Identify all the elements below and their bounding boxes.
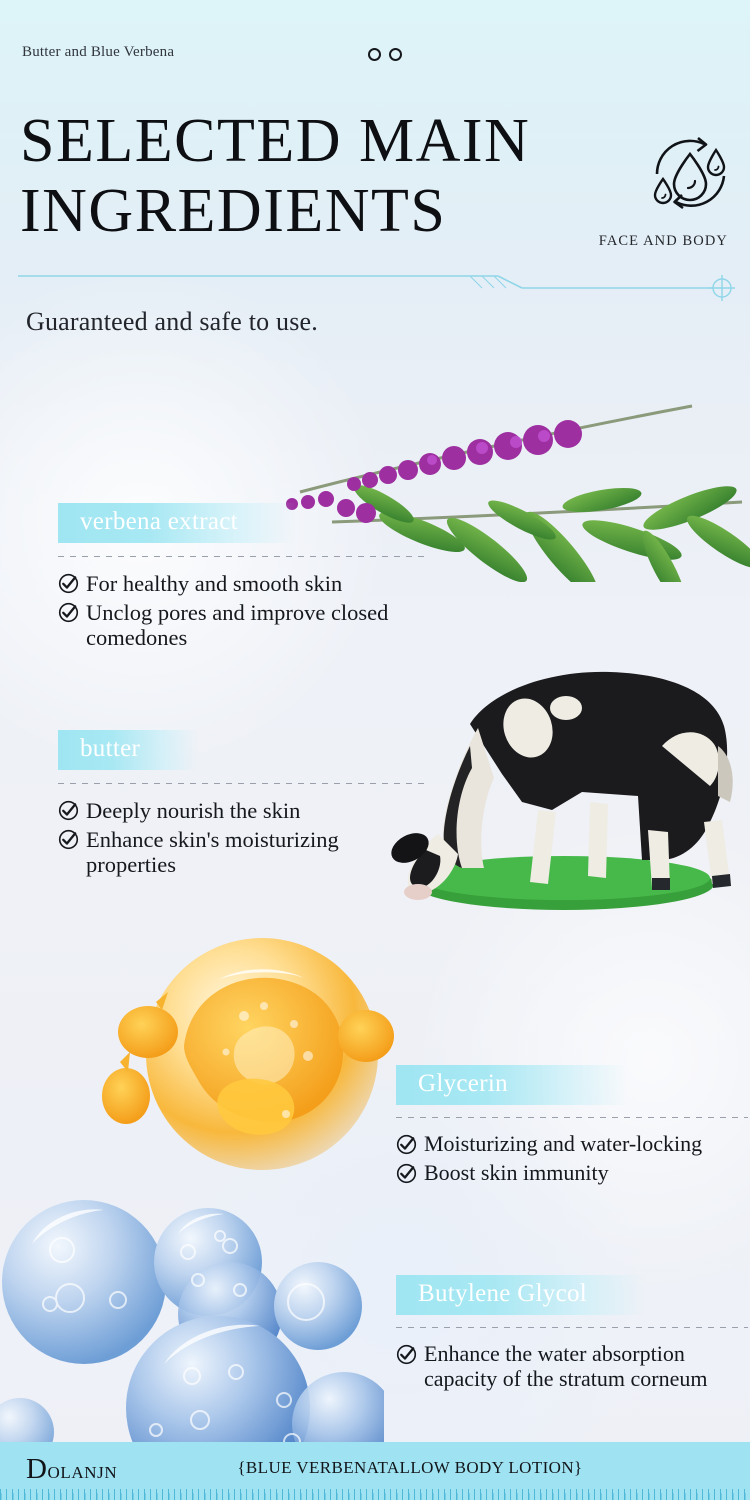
water-bubbles-photo bbox=[0, 1186, 384, 1468]
product-name-text: {BLUE VERBENATALLOW BODY LOTION} bbox=[0, 1458, 750, 1478]
list-item: Moisturizing and water-locking bbox=[396, 1132, 748, 1157]
ingredient-block-butylene-glycol: Butylene Glycol Enhance the water absorp… bbox=[396, 1275, 748, 1395]
dot-pair-icon bbox=[368, 48, 402, 61]
page-subtitle: Guaranteed and safe to use. bbox=[26, 307, 318, 337]
page-title-line1: SELECTED MAIN bbox=[20, 107, 530, 175]
dashed-divider bbox=[396, 1327, 748, 1328]
list-item: Unclog pores and improve closed comedone… bbox=[58, 600, 430, 650]
check-circle-icon bbox=[396, 1134, 417, 1155]
ingredient-name-tag: Glycerin bbox=[396, 1065, 628, 1105]
ruler-ticks-strip bbox=[0, 1489, 750, 1500]
list-item-text: Enhance skin's moisturizing properties bbox=[86, 827, 339, 877]
check-circle-icon bbox=[58, 573, 79, 594]
check-circle-icon bbox=[58, 800, 79, 821]
ingredient-name-tag: Butylene Glycol bbox=[396, 1275, 645, 1315]
list-item-text: Boost skin immunity bbox=[424, 1160, 609, 1185]
ingredient-block-glycerin: Glycerin Moisturizing and water-locking … bbox=[396, 1065, 748, 1189]
check-circle-icon bbox=[58, 602, 79, 623]
dashed-divider bbox=[396, 1117, 748, 1118]
ingredient-name-tag: verbena extract bbox=[58, 503, 296, 543]
list-item-text: Enhance the water absorption capacity of… bbox=[424, 1341, 707, 1391]
list-item: For healthy and smooth skin bbox=[58, 571, 430, 596]
infographic-page: Butter and Blue Verbena SELECTED MAIN IN… bbox=[0, 0, 750, 1500]
list-item: Enhance the water absorption capacity of… bbox=[396, 1342, 748, 1391]
eyebrow-text: Butter and Blue Verbena bbox=[22, 44, 174, 61]
water-drop-cycle-icon bbox=[646, 132, 734, 212]
list-item-text: For healthy and smooth skin bbox=[86, 571, 342, 596]
ingredient-block-verbena-extract: verbena extract For healthy and smooth s… bbox=[58, 503, 430, 655]
list-item-text: Deeply nourish the skin bbox=[86, 798, 300, 823]
face-and-body-label: FACE AND BODY bbox=[598, 232, 728, 252]
list-item-text: Unclog pores and improve closed comedone… bbox=[86, 600, 388, 650]
check-circle-icon bbox=[396, 1163, 417, 1184]
footer-bar: Dolanjn {BLUE VERBENATALLOW BODY LOTION} bbox=[0, 1442, 750, 1500]
benefit-list: Moisturizing and water-locking Boost ski… bbox=[396, 1132, 748, 1185]
dashed-divider bbox=[58, 556, 430, 557]
benefit-list: Deeply nourish the skin Enhance skin's m… bbox=[58, 798, 430, 878]
list-item: Boost skin immunity bbox=[396, 1161, 748, 1186]
glycerin-droplet-photo bbox=[98, 928, 404, 1184]
ingredient-block-butter: butter Deeply nourish the skin Enhance s… bbox=[58, 730, 430, 882]
check-circle-icon bbox=[58, 829, 79, 850]
list-item-text: Moisturizing and water-locking bbox=[424, 1131, 702, 1156]
page-title-line2: INGREDIENTS bbox=[20, 182, 660, 240]
list-item: Enhance skin's moisturizing properties bbox=[58, 827, 430, 877]
page-title: SELECTED MAIN INGREDIENTS bbox=[20, 112, 660, 241]
header-divider bbox=[0, 262, 750, 302]
benefit-list: Enhance the water absorption capacity of… bbox=[396, 1342, 748, 1391]
dashed-divider bbox=[58, 783, 430, 784]
ingredient-name-tag: butter bbox=[58, 730, 198, 770]
benefit-list: For healthy and smooth skin Unclog pores… bbox=[58, 571, 430, 651]
list-item: Deeply nourish the skin bbox=[58, 798, 430, 823]
check-circle-icon bbox=[396, 1344, 417, 1365]
